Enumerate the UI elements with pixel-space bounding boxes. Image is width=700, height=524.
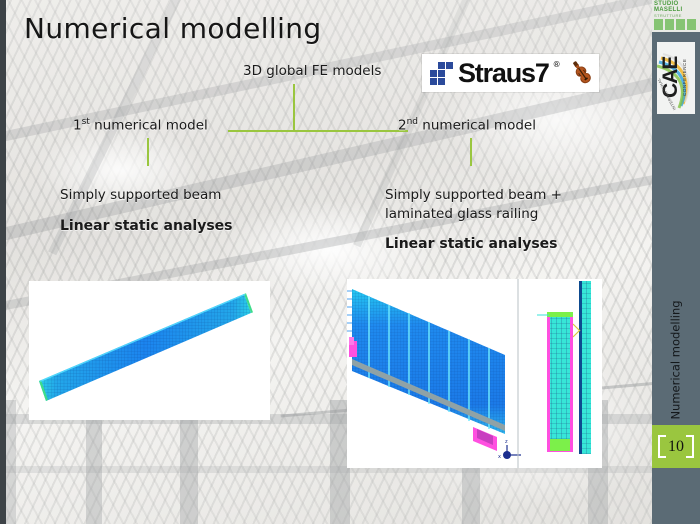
straus7-wordmark: Straus7 [458,60,549,87]
studio-maselli-name: STUDIO MASELLI [654,1,698,13]
cae-conference-logo: CAE CONFERENCE INTERNATIONAL [657,42,695,114]
studio-square [665,19,674,30]
page-number: 10 [668,438,684,456]
fe-mesh-beam-with-railing: x z [347,279,602,468]
cae-rotated-text: CAE CONFERENCE INTERNATIONAL [657,42,695,114]
cae-subtitle: CONFERENCE [682,58,687,96]
label-left-analysis-type: Linear static analyses [60,218,233,234]
studio-maselli-subtitle: STRUTTURE [654,13,682,18]
connector-stem-vertical [293,84,295,131]
label-right-analysis-type: Linear static analyses [385,236,558,252]
fe-model-image-first [29,281,270,420]
label-first-numerical-model-prefix: 1 [73,118,82,134]
slide-canvas: Numerical modelling 3D global FE models … [0,0,700,524]
label-right-description-line1: Simply supported beam + [385,187,562,203]
label-second-numerical-model: 2nd numerical model [398,117,536,134]
page-title: Numerical modelling [24,12,322,45]
label-first-numerical-model-sup: st [82,117,90,127]
connector-stem-model1 [147,138,149,166]
fe-mesh-beam-diagonal [29,281,270,420]
svg-text:z: z [505,439,508,445]
page-number-badge: 10 [652,425,700,468]
studio-square [676,19,685,30]
label-root-3d-global-fe-models: 3D global FE models [243,63,381,79]
bracket-left-icon [658,435,666,458]
fe-model-image-second: x z [347,279,602,468]
label-left-description: Simply supported beam [60,187,221,203]
straus7-squares-icon [428,60,454,86]
sidebar-section-label: Numerical modelling [652,300,700,420]
connector-stem-model2 [470,138,472,166]
violin-icon [567,58,597,88]
studio-maselli-logo: STUDIO MASELLI STRUTTURE [652,0,700,32]
sidebar-section-label-text: Numerical modelling [669,300,683,419]
straus7-logo: Straus7 ® [422,54,599,92]
svg-text:x: x [498,454,501,460]
connector-bar-horizontal [228,130,408,132]
left-edge-strip [0,0,6,524]
studio-square [654,19,663,30]
label-first-numerical-model-suffix: numerical model [90,118,208,134]
label-first-numerical-model: 1st numerical model [73,117,208,134]
label-second-numerical-model-prefix: 2 [398,118,407,134]
studio-square [687,19,696,30]
label-right-description-line2: laminated glass railing [385,206,538,222]
registered-trademark-icon: ® [553,60,561,69]
bracket-right-icon [686,435,694,458]
label-second-numerical-model-suffix: numerical model [418,118,536,134]
label-second-numerical-model-sup: nd [407,117,418,127]
